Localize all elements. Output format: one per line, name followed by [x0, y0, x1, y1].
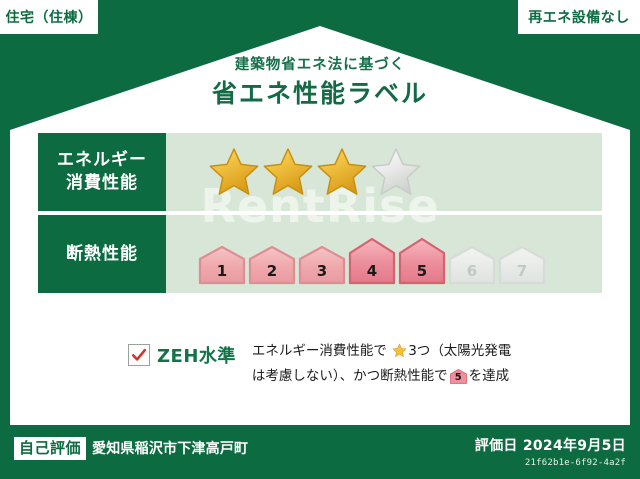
- row-insulation-performance: 断熱性能 1234567: [38, 215, 602, 293]
- checkmark-icon: [131, 347, 147, 363]
- zeh-desc-text-b: （太陽光発電: [430, 343, 511, 359]
- footer: 自己評価 愛知県稲沢市下津高戸町 評価日 2024年9月5日 21f62b1e-…: [0, 425, 640, 479]
- insulation-level-3: 3: [298, 245, 346, 285]
- star-icon-inline: [388, 346, 407, 362]
- insulation-level-2: 2: [248, 245, 296, 285]
- row-insulation-label: 断熱性能: [38, 215, 166, 293]
- zeh-description-line2: は考慮しない）、かつ断熱性能で 5を達成: [252, 365, 548, 387]
- document-id: 21f62b1e-6f92-4a2f: [475, 458, 626, 468]
- insulation-scale: 1234567: [166, 215, 602, 293]
- row-energy-performance: エネルギー 消費性能: [38, 133, 602, 211]
- insulation-level-7: 7: [498, 245, 546, 285]
- star-rating: [166, 133, 602, 211]
- star-icon-filled: [316, 146, 368, 198]
- evaluation-date: 評価日 2024年9月5日: [475, 435, 626, 455]
- badge-renewable-energy: 再エネ設備なし: [518, 0, 640, 34]
- star-icon-filled: [262, 146, 314, 198]
- footer-left: 自己評価 愛知県稲沢市下津高戸町: [14, 437, 248, 460]
- row-energy-label-line2: 消費性能: [66, 172, 138, 195]
- zeh-description: エネルギー消費性能で 3つ（太陽光発電 は考慮しない）、かつ断熱性能で 5を達成: [252, 340, 548, 388]
- insulation-level-4: 4: [348, 237, 396, 285]
- insulation-level-number: 1: [198, 264, 246, 279]
- star-icon-filled: [208, 146, 260, 198]
- row-energy-label: エネルギー 消費性能: [38, 133, 166, 211]
- insulation-level-number: 7: [498, 264, 546, 279]
- zeh-desc-text-d: を達成: [469, 368, 510, 384]
- house-icon-inline-number: 5: [450, 373, 467, 383]
- zeh-checkbox[interactable]: [128, 344, 150, 366]
- house-icon-inline: 5: [450, 369, 467, 384]
- zeh-desc-star-count: 3つ: [408, 343, 430, 359]
- title-subtitle: 建築物省エネ法に基づく: [0, 58, 640, 74]
- insulation-level-6: 6: [448, 245, 496, 285]
- insulation-level-number: 3: [298, 264, 346, 279]
- row-insulation-label-text: 断熱性能: [66, 243, 138, 266]
- insulation-level-1: 1: [198, 245, 246, 285]
- zeh-description-line1: エネルギー消費性能で 3つ（太陽光発電: [252, 340, 548, 365]
- zeh-standard-block: ZEH水準 エネルギー消費性能で 3つ（太陽光発電 は考慮しない）、かつ断熱性能…: [128, 340, 548, 388]
- insulation-level-number: 2: [248, 264, 296, 279]
- zeh-desc-text-c: は考慮しない）、かつ断熱性能で: [252, 368, 448, 384]
- insulation-level-number: 4: [348, 264, 396, 279]
- insulation-level-number: 5: [398, 264, 446, 279]
- badge-building-type: 住宅（住棟）: [0, 0, 98, 34]
- insulation-level-5: 5: [398, 237, 446, 285]
- row-energy-label-line1: エネルギー: [57, 149, 147, 172]
- self-evaluation-badge: 自己評価: [14, 437, 86, 460]
- title-block: 建築物省エネ法に基づく 省エネ性能ラベル: [0, 58, 640, 107]
- property-address: 愛知県稲沢市下津高戸町: [92, 438, 248, 458]
- star-icon-empty: [370, 146, 422, 198]
- zeh-label: ZEH水準: [157, 342, 236, 368]
- footer-right: 評価日 2024年9月5日 21f62b1e-6f92-4a2f: [475, 435, 626, 468]
- zeh-desc-text-a: エネルギー消費性能で: [252, 343, 387, 359]
- row-divider: [38, 211, 602, 215]
- insulation-level-number: 6: [448, 264, 496, 279]
- energy-performance-label: 住宅（住棟） 再エネ設備なし 建築物省エネ法に基づく 省エネ性能ラベル Rent…: [0, 0, 640, 479]
- rating-panel: RentRise エネルギー 消費性能 断熱性能 1234567: [38, 133, 602, 293]
- page-title: 省エネ性能ラベル: [0, 80, 640, 108]
- zeh-check-row: ZEH水準: [128, 342, 236, 368]
